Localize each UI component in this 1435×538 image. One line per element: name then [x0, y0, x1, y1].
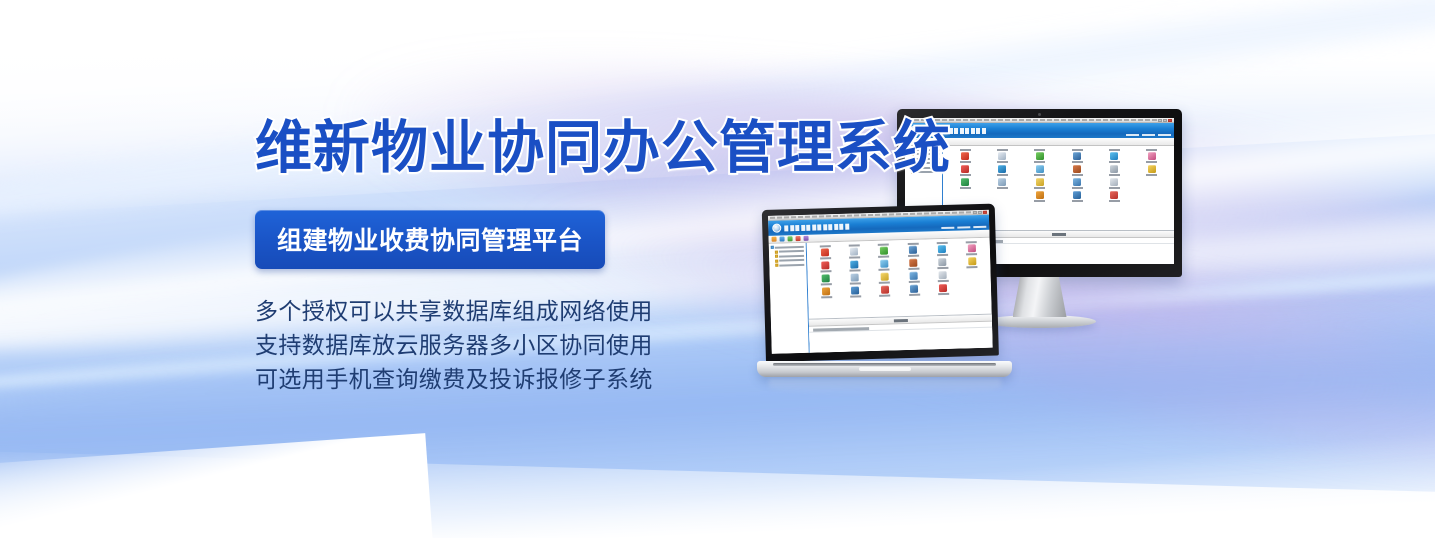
minimize-icon[interactable]	[1158, 119, 1162, 122]
app-header-links[interactable]	[1126, 134, 1171, 137]
monitor-stand-neck	[1013, 277, 1067, 317]
list-item: 可选用手机查询缴费及投诉报修子系统	[255, 362, 951, 396]
tagline-badge: 组建物业收费协同管理平台	[255, 210, 605, 269]
module-tile[interactable]	[984, 178, 1020, 189]
module-tile-empty	[959, 283, 988, 295]
bottom-panel-title	[1052, 233, 1066, 236]
module-tile[interactable]	[1059, 149, 1095, 163]
module-tile[interactable]	[1022, 191, 1058, 202]
header-link[interactable]	[1142, 134, 1155, 137]
module-tile-empty	[1134, 178, 1170, 189]
module-tile-empty	[984, 191, 1020, 202]
list-item: 多个授权可以共享数据库组成网络使用	[255, 294, 951, 328]
header-link[interactable]	[1126, 134, 1139, 137]
module-tile[interactable]	[1096, 149, 1132, 163]
module-tile[interactable]	[1096, 191, 1132, 202]
feature-list: 多个授权可以共享数据库组成网络使用 支持数据库放云服务器多小区协同使用 可选用手…	[255, 294, 951, 396]
module-tile[interactable]	[984, 165, 1020, 176]
close-icon[interactable]	[983, 210, 987, 213]
module-tile[interactable]	[947, 165, 983, 176]
header-link[interactable]	[1158, 134, 1171, 137]
module-tile[interactable]	[958, 257, 987, 269]
module-tile[interactable]	[1022, 149, 1058, 163]
module-tile[interactable]	[1059, 165, 1095, 176]
module-tile[interactable]	[984, 149, 1020, 163]
maximize-icon[interactable]	[978, 210, 982, 213]
list-item: 支持数据库放云服务器多小区协同使用	[255, 328, 951, 362]
module-tile[interactable]	[1134, 165, 1170, 176]
window-controls[interactable]	[1158, 119, 1172, 122]
promo-banner: 维新物业协同办公管理系统 组建物业收费协同管理平台 多个授权可以共享数据库组成网…	[0, 0, 1435, 538]
module-tile[interactable]	[947, 178, 983, 189]
webcam-icon	[1038, 113, 1041, 116]
module-tile-empty	[958, 270, 987, 282]
module-tile[interactable]	[1096, 165, 1132, 176]
module-tile[interactable]	[947, 149, 983, 163]
module-tile[interactable]	[957, 241, 986, 256]
module-tile[interactable]	[1134, 149, 1170, 163]
module-tile[interactable]	[1096, 178, 1132, 189]
maximize-icon[interactable]	[1163, 119, 1167, 122]
module-tile[interactable]	[1059, 191, 1095, 202]
page-title: 维新物业协同办公管理系统	[255, 118, 951, 180]
module-tile[interactable]	[1022, 165, 1058, 176]
window-controls[interactable]	[973, 210, 987, 213]
header-link[interactable]	[973, 225, 986, 228]
module-tile[interactable]	[1059, 178, 1095, 189]
module-tile[interactable]	[1022, 178, 1058, 189]
header-link[interactable]	[957, 226, 970, 229]
copy-block: 维新物业协同办公管理系统 组建物业收费协同管理平台 多个授权可以共享数据库组成网…	[255, 118, 951, 396]
minimize-icon[interactable]	[973, 211, 977, 214]
close-icon[interactable]	[1168, 119, 1172, 122]
module-tile-empty	[947, 191, 983, 202]
module-tile-empty	[1134, 191, 1170, 202]
